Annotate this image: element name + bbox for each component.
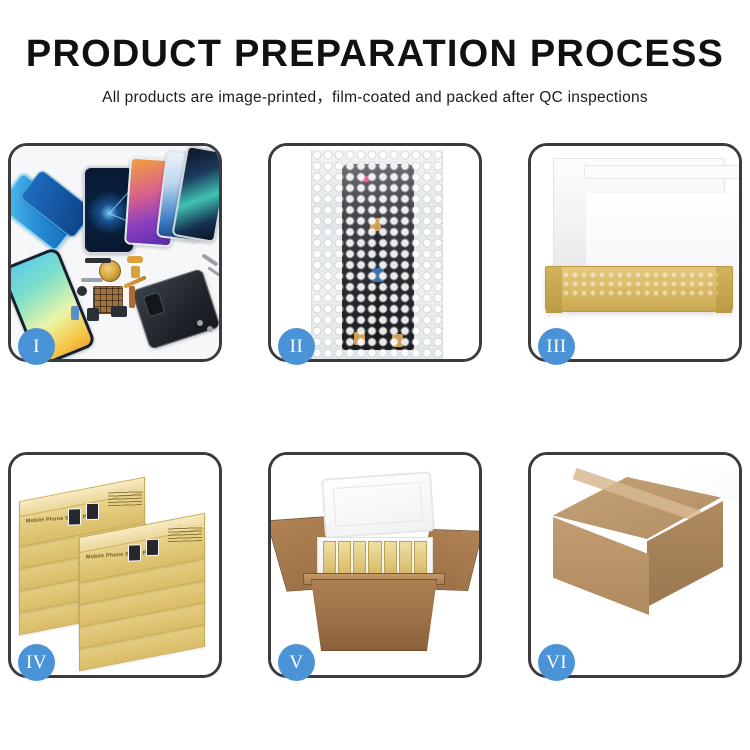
step-badge-6: VI [538, 644, 575, 681]
step-badge-4: IV [18, 644, 55, 681]
product-preparation-process-page: PRODUCT PREPARATION PROCESS All products… [0, 0, 750, 750]
process-step-panel-2: II [268, 143, 482, 362]
process-step-panel-5: V [268, 452, 482, 678]
page-title: PRODUCT PREPARATION PROCESS [0, 34, 750, 74]
page-header: PRODUCT PREPARATION PROCESS All products… [0, 0, 750, 107]
step-3-image [531, 146, 739, 359]
step-badge-1: I [18, 328, 55, 365]
shipping-carton-icon [311, 579, 437, 651]
white-box-lid-icon [553, 158, 725, 268]
bubble-wrap-bag-icon [311, 150, 443, 359]
step-badge-5: V [278, 644, 315, 681]
process-step-panel-6: VI [528, 452, 742, 678]
step-5-image [271, 455, 479, 675]
step-4-image: Mobile Phone Spare Parts Mobile Pho [11, 455, 219, 675]
step-2-image [271, 146, 479, 359]
step-1-image [11, 146, 219, 359]
step-badge-3: III [538, 328, 575, 365]
page-subtitle: All products are image-printed，film-coat… [0, 85, 750, 107]
process-step-grid: I [8, 143, 742, 678]
step-badge-2: II [278, 328, 315, 365]
foam-lid-icon [321, 471, 435, 539]
process-step-panel-4: Mobile Phone Spare Parts Mobile Pho [8, 452, 222, 678]
stacked-gold-boxes-icon: Mobile Phone Spare Parts Mobile Pho [17, 477, 217, 663]
bubble-wrapped-contents-icon [562, 271, 718, 297]
gold-box-tray-icon [545, 266, 733, 312]
step-6-image [531, 455, 739, 675]
process-step-panel-3: III [528, 143, 742, 362]
process-step-panel-1: I [8, 143, 222, 362]
